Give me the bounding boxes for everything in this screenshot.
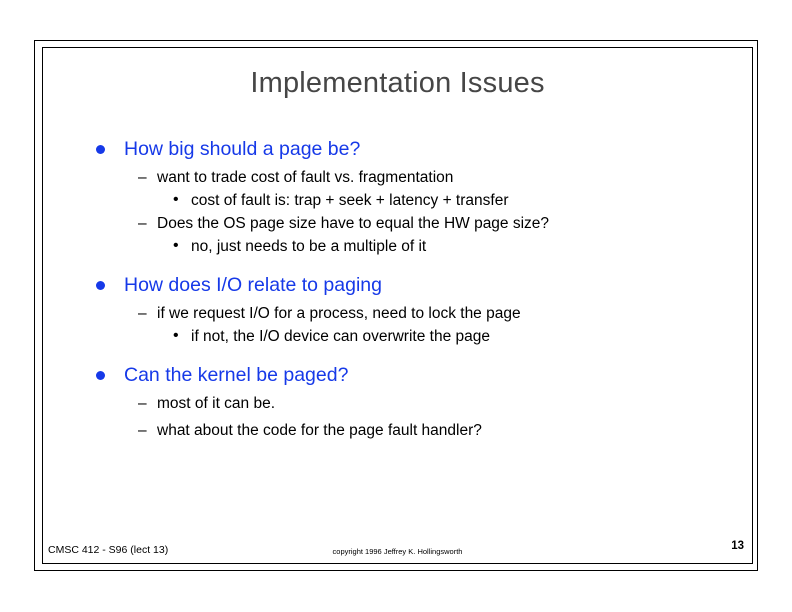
bullet-level1: Can the kernel be paged? bbox=[43, 362, 752, 388]
bullet-text: if we request I/O for a process, need to… bbox=[157, 305, 521, 322]
en-dash-bullet-icon: – bbox=[138, 212, 147, 235]
bullet-text: what about the code for the page fault h… bbox=[157, 422, 482, 439]
footer-page-number: 13 bbox=[731, 539, 744, 553]
bullet-level2: – Does the OS page size have to equal th… bbox=[43, 212, 752, 235]
en-dash-bullet-icon: – bbox=[138, 166, 147, 189]
bullet-level2: – if we request I/O for a process, need … bbox=[43, 302, 752, 325]
slide-footer: CMSC 412 - S96 (lect 13) copyright 1996 … bbox=[43, 540, 752, 563]
bullet-section-page-size: How big should a page be? – want to trad… bbox=[43, 136, 752, 258]
bullet-level3: • if not, the I/O device can overwrite t… bbox=[43, 325, 752, 348]
bullet-level2: – what about the code for the page fault… bbox=[43, 419, 752, 442]
small-dot-bullet-icon: • bbox=[173, 234, 179, 257]
slide-title: Implementation Issues bbox=[43, 66, 752, 100]
small-dot-bullet-icon: • bbox=[173, 324, 179, 347]
bullet-level1: How big should a page be? bbox=[43, 136, 752, 162]
bullet-text: want to trade cost of fault vs. fragment… bbox=[157, 169, 453, 186]
footer-copyright: copyright 1996 Jeffrey K. Hollingsworth bbox=[43, 546, 752, 557]
en-dash-bullet-icon: – bbox=[138, 302, 147, 325]
bullet-text: How does I/O relate to paging bbox=[124, 274, 382, 296]
en-dash-bullet-icon: – bbox=[138, 419, 147, 442]
filled-circle-bullet-icon bbox=[96, 371, 105, 380]
bullet-text: most of it can be. bbox=[157, 395, 275, 412]
bullet-text: cost of fault is: trap + seek + latency … bbox=[191, 192, 508, 209]
bullet-text: How big should a page be? bbox=[124, 138, 360, 160]
bullet-text: no, just needs to be a multiple of it bbox=[191, 238, 426, 255]
bullet-level1: How does I/O relate to paging bbox=[43, 272, 752, 298]
bullet-text: if not, the I/O device can overwrite the… bbox=[191, 328, 490, 345]
bullet-level3: • cost of fault is: trap + seek + latenc… bbox=[43, 189, 752, 212]
slide-body: How big should a page be? – want to trad… bbox=[43, 136, 752, 442]
bullet-section-kernel-paged: Can the kernel be paged? – most of it ca… bbox=[43, 362, 752, 442]
en-dash-bullet-icon: – bbox=[138, 392, 147, 415]
bullet-text: Does the OS page size have to equal the … bbox=[157, 215, 549, 232]
bullet-section-io-paging: How does I/O relate to paging – if we re… bbox=[43, 272, 752, 348]
bullet-level2: – most of it can be. bbox=[43, 392, 752, 415]
bullet-level2: – want to trade cost of fault vs. fragme… bbox=[43, 166, 752, 189]
small-dot-bullet-icon: • bbox=[173, 188, 179, 211]
bullet-level3: • no, just needs to be a multiple of it bbox=[43, 235, 752, 258]
filled-circle-bullet-icon bbox=[96, 281, 105, 290]
bullet-text: Can the kernel be paged? bbox=[124, 364, 348, 386]
filled-circle-bullet-icon bbox=[96, 145, 105, 154]
